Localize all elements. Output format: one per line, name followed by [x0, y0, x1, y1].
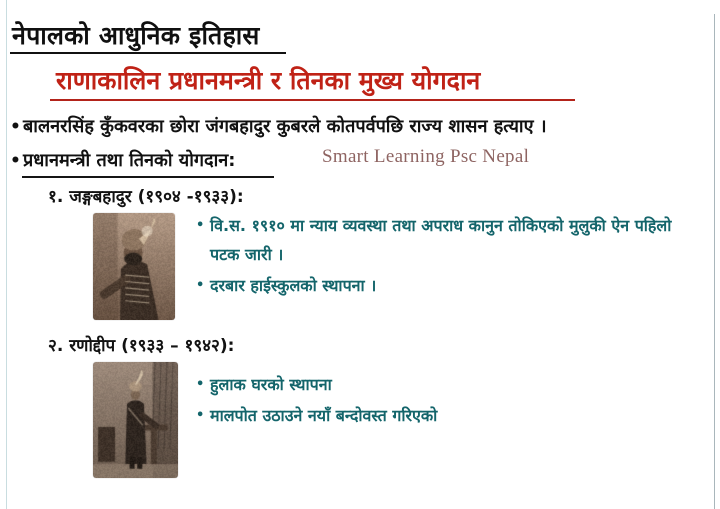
entry-2-title: २. रणोद्दीप (१९३३ – १९४२): — [48, 333, 234, 356]
bullet-dot-icon: • — [196, 401, 210, 430]
list-item: • मालपोत उठाउने नयाँ बन्दोवस्त गरिएको — [196, 401, 701, 430]
left-margin-rule — [6, 0, 7, 509]
entry-1-points: • वि.स. १९१० मा न्याय व्यवस्था तथा अपराध… — [196, 211, 701, 302]
bullet-dot-icon: • — [10, 151, 23, 171]
lead-bullet-2-text: प्रधानमन्त्री तथा तिनको योगदान: — [23, 150, 235, 171]
right-margin-rule — [714, 14, 715, 509]
page-title: नेपालको आधुनिक इतिहास — [12, 18, 260, 52]
bullet-dot-icon: • — [196, 271, 210, 300]
list-item: • वि.स. १९१० मा न्याय व्यवस्था तथा अपराध… — [196, 211, 701, 269]
list-item-text: दरबार हाईस्कुलको स्थापना । — [210, 271, 701, 300]
portrait-canvas — [93, 362, 178, 478]
list-item: • दरबार हाईस्कुलको स्थापना । — [196, 271, 701, 300]
list-item: • हुलाक घरको स्थापना — [196, 370, 701, 399]
portrait-canvas — [93, 213, 175, 320]
section-heading: राणाकालिन प्रधानमन्त्री र तिनका मुख्य यो… — [56, 63, 480, 97]
bullet-dot-icon: • — [196, 211, 210, 240]
slide-page: नेपालको आधुनिक इतिहास राणाकालिन प्रधानमन… — [0, 0, 720, 509]
entry-1-title: १. जङ्गबहादुर (१९०४ -१९३३): — [48, 184, 244, 207]
lead-bullet-1: •बालनरसिंह कुँकवरका छोरा जंगबहादुर कुबरल… — [10, 114, 547, 138]
list-item-text: मालपोत उठाउने नयाँ बन्दोवस्त गरिएको — [210, 401, 701, 430]
bullet-dot-icon: • — [196, 370, 210, 399]
lead-bullet-1-text: बालनरसिंह कुँकवरका छोरा जंगबहादुर कुबरले… — [23, 116, 547, 137]
bullet-dot-icon: • — [10, 117, 23, 137]
lead-bullet-2-underline — [22, 176, 274, 178]
lead-bullet-2: •प्रधानमन्त्री तथा तिनको योगदान: — [10, 148, 235, 172]
jung-bahadur-portrait — [93, 213, 175, 320]
list-item-text: वि.स. १९१० मा न्याय व्यवस्था तथा अपराध क… — [210, 211, 701, 269]
page-title-underline — [10, 52, 286, 54]
list-item-text: हुलाक घरको स्थापना — [210, 370, 701, 399]
entry-2-points: • हुलाक घरको स्थापना • मालपोत उठाउने नया… — [196, 370, 701, 432]
watermark-label: Smart Learning Psc Nepal — [322, 146, 529, 168]
section-heading-underline — [50, 99, 575, 101]
ranoddip-singh-portrait — [93, 362, 178, 478]
